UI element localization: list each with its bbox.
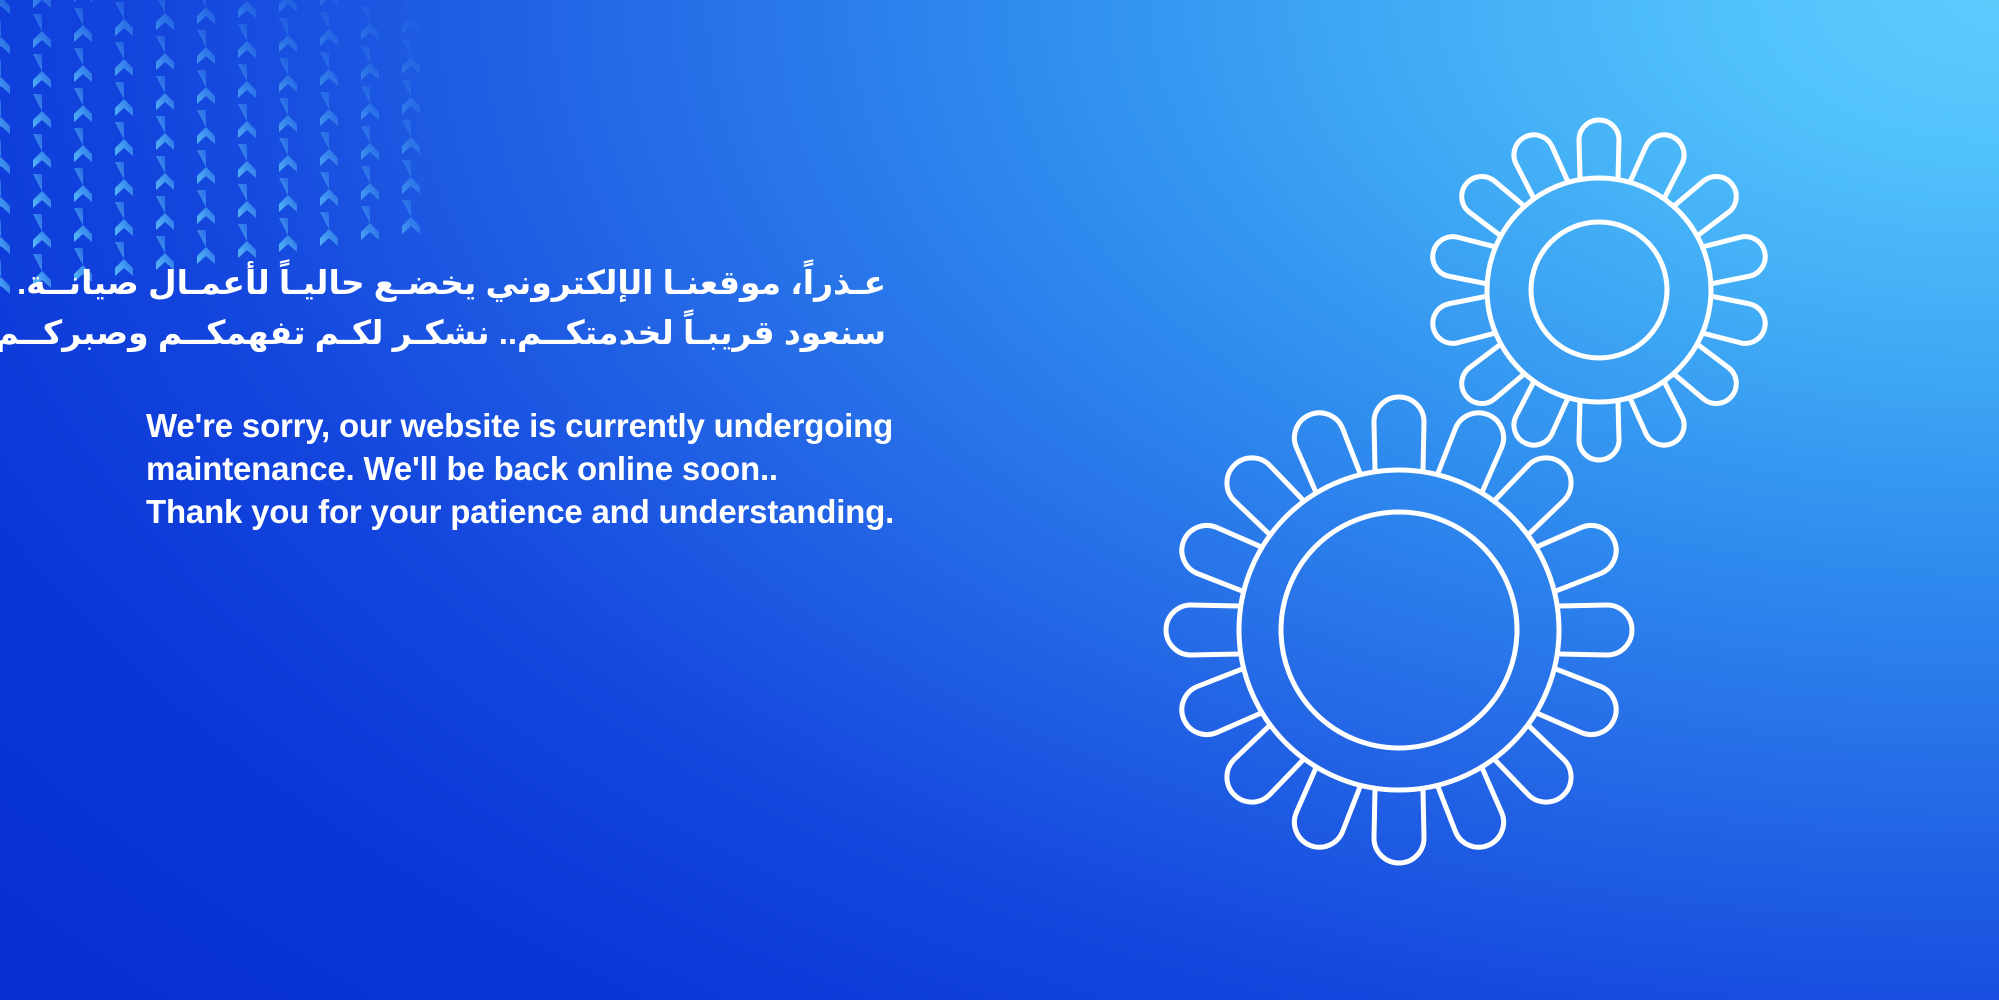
chevron-grid [0,0,420,294]
small-gear-body [1487,178,1711,402]
gears-decoration [1099,0,1999,1000]
maintenance-page: عـذراً، موقعنـا الإلكتروني يخضـع حاليـاً… [0,0,1999,1000]
arabic-message: عـذراً، موقعنـا الإلكتروني يخضـع حاليـاً… [146,258,886,358]
english-line-3: Thank you for your patience and understa… [146,490,1046,533]
maintenance-message: عـذراً، موقعنـا الإلكتروني يخضـع حاليـاً… [146,258,1046,533]
large-gear-body [1239,470,1559,790]
small-gear [1429,120,1769,460]
english-line-1: We're sorry, our website is currently un… [146,404,1046,447]
english-line-2: maintenance. We'll be back online soon.. [146,447,1046,490]
small-gear-hub [1531,222,1667,358]
english-message: We're sorry, our website is currently un… [146,404,1046,533]
arabic-line-1: عـذراً، موقعنـا الإلكتروني يخضـع حاليـاً… [146,258,886,308]
arabic-line-2: سنعود قريبـاً لخدمتكــم.. نشكـر لكـم تفه… [146,308,886,358]
large-gear [1166,397,1632,863]
large-gear-hub [1281,512,1517,748]
